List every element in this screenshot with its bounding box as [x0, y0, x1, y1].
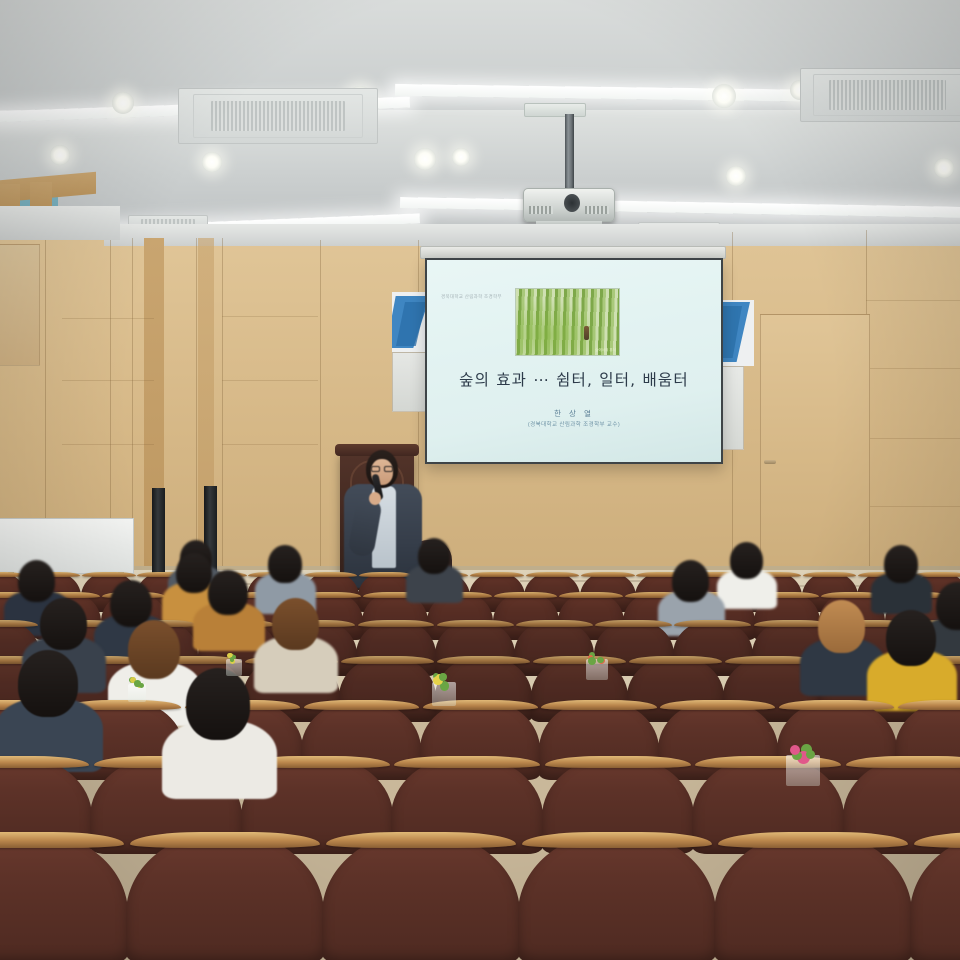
wood-seam-h: [62, 318, 154, 319]
column-speaker-left: [152, 488, 165, 584]
wood-seam-h: [222, 444, 318, 445]
flower-bouquet: [226, 652, 242, 676]
wood-panel-upper-left: [0, 244, 40, 366]
audience-person-head: [672, 560, 709, 602]
bouquet-flower: [790, 745, 800, 755]
door-handle-icon[interactable]: [764, 460, 776, 464]
eyeglasses-icon: [371, 466, 393, 472]
flower-bouquet: [786, 742, 820, 786]
flower-bouquet: [128, 676, 146, 702]
audience-person-head: [818, 600, 865, 653]
projector-icon: [523, 188, 615, 222]
audience-person-head: [418, 538, 450, 574]
audience-person-head: [18, 650, 78, 717]
slide-photo-caption: 숲에서의 휴식: [595, 348, 616, 353]
wood-seam-h: [866, 506, 960, 507]
bouquet-flower: [439, 673, 446, 680]
downlight-icon: [452, 148, 470, 166]
banner-left: [392, 292, 428, 352]
wall-white-panel: [392, 352, 426, 412]
wall-soffit: [104, 224, 960, 246]
flower-bouquet: [432, 672, 456, 706]
projector-ceiling-plate: [524, 103, 586, 117]
bouquet-flower: [134, 680, 140, 686]
downlight-icon: [202, 152, 222, 172]
door[interactable]: [760, 314, 870, 572]
audience-person-head: [884, 545, 918, 583]
slide-header-text: 경북대학교 산림과학 조경학부: [441, 294, 502, 300]
audience-person-head: [886, 610, 936, 666]
slide-forest-photo: 숲에서의 휴식: [515, 288, 620, 356]
downlight-icon: [414, 148, 436, 170]
wood-seam-h: [62, 444, 154, 445]
slide-presenter-name: 한 상 열: [427, 408, 721, 419]
wood-seam-h: [866, 368, 960, 369]
bouquet-flower: [230, 657, 235, 662]
slide-presenter-affiliation: (경북대학교 산림과학 조경학부 교수): [427, 420, 721, 428]
auditorium-photo: 경북대학교 산림과학 조경학부 숲에서의 휴식 숲의 효과 ⋯ 쉼터, 일터, …: [0, 0, 960, 960]
ac-vent-icon: [800, 68, 960, 122]
audience-person-head: [18, 560, 55, 602]
ac-vent-icon: [178, 88, 378, 144]
side-table: [0, 518, 134, 574]
projection-screen: 경북대학교 산림과학 조경학부 숲에서의 휴식 숲의 효과 ⋯ 쉼터, 일터, …: [425, 258, 723, 464]
forest-photo-figure: [584, 326, 589, 340]
ceiling-baffle: [30, 182, 52, 208]
wood-seam-h: [222, 380, 318, 381]
downlight-icon: [934, 158, 954, 178]
wall-soffit-left: [0, 206, 120, 240]
audience-person-head: [128, 620, 180, 679]
audience-person-head: [186, 668, 250, 740]
wood-seam-h: [866, 438, 960, 439]
audience-person-head: [40, 598, 87, 650]
audience-person-head: [730, 542, 763, 579]
audience-person-head: [272, 598, 319, 650]
wood-seam: [320, 240, 321, 572]
wood-seam: [222, 238, 223, 572]
wood-seam-h: [222, 316, 318, 317]
audience-person-head: [176, 553, 212, 593]
audience-person-head: [208, 570, 248, 615]
bouquet-flower: [588, 657, 596, 665]
audience-person-head: [268, 545, 302, 583]
downlight-icon: [50, 145, 70, 165]
presenter-hand: [369, 492, 381, 505]
bouquet-flower: [806, 750, 815, 759]
wood-seam: [196, 238, 197, 572]
wood-seam-h: [866, 300, 960, 301]
flower-bouquet: [586, 650, 608, 680]
downlight-icon: [112, 92, 134, 114]
downlight-icon: [712, 84, 736, 108]
downlight-icon: [726, 166, 746, 186]
slide-title: 숲의 효과 ⋯ 쉼터, 일터, 배움터: [427, 368, 721, 390]
projector-pole-mount: [565, 114, 574, 192]
wood-seam-h: [62, 380, 154, 381]
